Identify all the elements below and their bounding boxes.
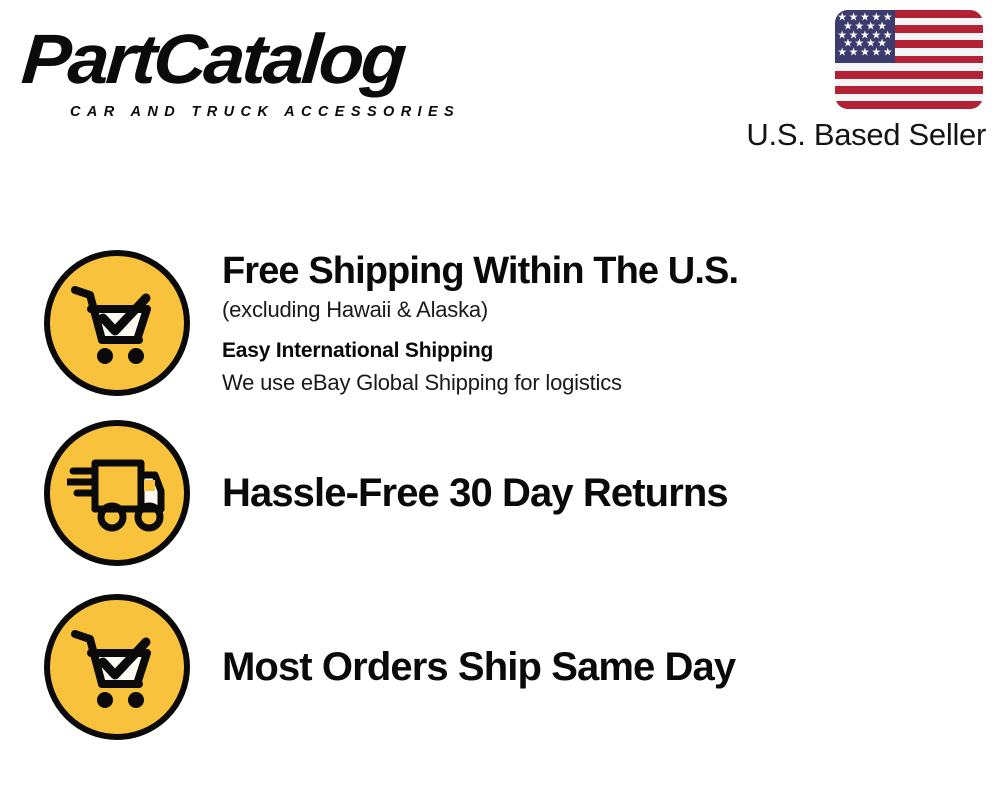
shopping-cart-check-icon (44, 250, 190, 396)
feature-row: Free Shipping Within The U.S. (excluding… (0, 240, 1000, 405)
feature-row: Most Orders Ship Same Day (0, 592, 1000, 742)
page-header: PartCatalog CAR AND TRUCK ACCESSORIES ★ … (0, 0, 1000, 175)
flag-stripe (835, 101, 983, 109)
brand-wordmark: PartCatalog (19, 16, 407, 102)
us-flag-icon: ★ ★ ★ ★ ★ ★ ★ ★ ★ ★ ★ ★ ★ ★ ★ ★ ★ ★ ★ ★ (835, 10, 983, 109)
shopping-cart-check-icon (44, 594, 190, 740)
feature-subtitle-strong: Easy International Shipping (222, 334, 980, 368)
flag-stripe (835, 71, 983, 79)
feature-title: Free Shipping Within The U.S. (222, 248, 980, 294)
flag-stripe (835, 79, 983, 87)
feature-text-block: Most Orders Ship Same Day (222, 642, 1000, 692)
delivery-truck-icon (44, 420, 190, 566)
feature-title: Hassle-Free 30 Day Returns (222, 468, 980, 518)
flag-stripe (835, 94, 983, 102)
flag-stripe (835, 86, 983, 94)
feature-text-block: Hassle-Free 30 Day Returns (222, 468, 1000, 518)
flag-canton: ★ ★ ★ ★ ★ ★ ★ ★ ★ ★ ★ ★ ★ ★ ★ ★ ★ ★ ★ ★ (835, 10, 895, 63)
feature-subtitle-light: We use eBay Global Shipping for logistic… (222, 368, 980, 398)
us-based-seller-label: U.S. Based Seller (746, 116, 986, 154)
feature-title: Most Orders Ship Same Day (222, 642, 980, 692)
us-flag-badge: ★ ★ ★ ★ ★ ★ ★ ★ ★ ★ ★ ★ ★ ★ ★ ★ ★ ★ ★ ★ (835, 10, 983, 109)
feature-subtitle: (excluding Hawaii & Alaska) (222, 294, 980, 326)
feature-text-block: Free Shipping Within The U.S. (excluding… (222, 248, 1000, 398)
flag-stripe (835, 63, 983, 71)
feature-row: Hassle-Free 30 Day Returns (0, 418, 1000, 568)
brand-tagline: CAR AND TRUCK ACCESSORIES (70, 104, 460, 120)
brand-logo[interactable]: PartCatalog CAR AND TRUCK ACCESSORIES (22, 18, 492, 118)
